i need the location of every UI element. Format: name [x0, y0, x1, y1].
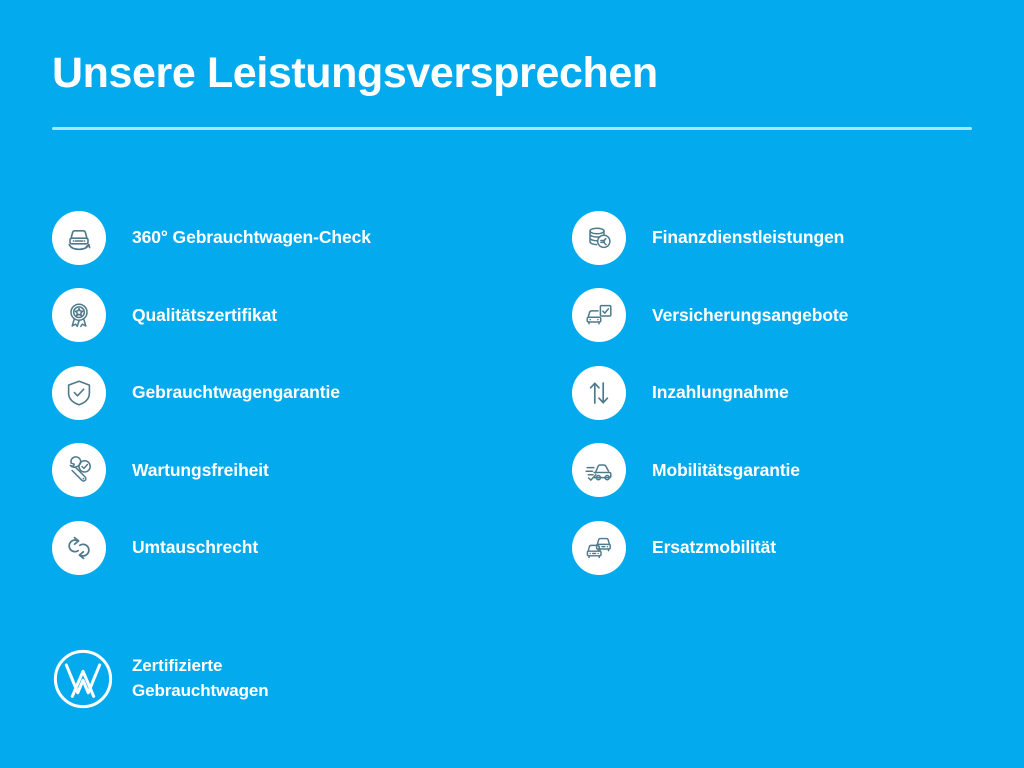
- title-divider: [52, 127, 972, 130]
- brand-line-1: Zertifizierte: [132, 654, 269, 679]
- benefit-label: Inzahlungnahme: [652, 382, 789, 403]
- car-360-check-icon: [52, 211, 106, 265]
- benefit-label: 360° Gebrauchtwagen-Check: [132, 227, 371, 248]
- coins-euro-icon: [572, 211, 626, 265]
- benefit-label: Qualitätszertifikat: [132, 305, 277, 326]
- benefit-label: Ersatzmobilität: [652, 537, 776, 558]
- benefit-label: Gebrauchtwagengarantie: [132, 382, 340, 403]
- brand-footer: Zertifizierte Gebrauchtwagen: [52, 648, 269, 710]
- brand-line-2: Gebrauchtwagen: [132, 679, 269, 704]
- benefit-item-replacement-mobility[interactable]: Ersatzmobilität: [572, 509, 982, 587]
- brand-text: Zertifizierte Gebrauchtwagen: [132, 654, 269, 703]
- benefit-item-mobility-guarantee[interactable]: Mobilitätsgarantie: [572, 432, 982, 510]
- benefit-item-financial-services[interactable]: Finanzdienstleistungen: [572, 199, 982, 277]
- benefits-grid: 360° Gebrauchtwagen-Check Finanzdienstle…: [52, 199, 982, 587]
- arrows-up-down-icon: [572, 366, 626, 420]
- benefit-item-maintenance-free[interactable]: Wartungsfreiheit: [52, 432, 572, 510]
- car-speed-icon: [572, 443, 626, 497]
- benefit-label: Umtauschrecht: [132, 537, 258, 558]
- benefit-item-quality-certificate[interactable]: Qualitätszertifikat: [52, 277, 572, 355]
- header: Unsere Leistungsversprechen: [52, 50, 972, 130]
- car-document-check-icon: [572, 288, 626, 342]
- benefit-item-trade-in[interactable]: Inzahlungnahme: [572, 354, 982, 432]
- two-cars-icon: [572, 521, 626, 575]
- benefit-item-insurance-offers[interactable]: Versicherungsangebote: [572, 277, 982, 355]
- award-rosette-icon: [52, 288, 106, 342]
- benefit-label: Finanzdienstleistungen: [652, 227, 844, 248]
- benefit-label: Wartungsfreiheit: [132, 460, 269, 481]
- page-title: Unsere Leistungsversprechen: [52, 50, 972, 97]
- benefit-label: Versicherungsangebote: [652, 305, 848, 326]
- volkswagen-logo-icon: [52, 648, 114, 710]
- benefit-item-used-car-warranty[interactable]: Gebrauchtwagengarantie: [52, 354, 572, 432]
- benefit-label: Mobilitätsgarantie: [652, 460, 800, 481]
- exchange-arrows-icon: [52, 521, 106, 575]
- shield-check-icon: [52, 366, 106, 420]
- slide-root: Unsere Leistungsversprechen 360° Gebrauc…: [0, 0, 1024, 768]
- wrench-check-icon: [52, 443, 106, 497]
- benefit-item-exchange-right[interactable]: Umtauschrecht: [52, 509, 572, 587]
- benefit-item-360-check[interactable]: 360° Gebrauchtwagen-Check: [52, 199, 572, 277]
